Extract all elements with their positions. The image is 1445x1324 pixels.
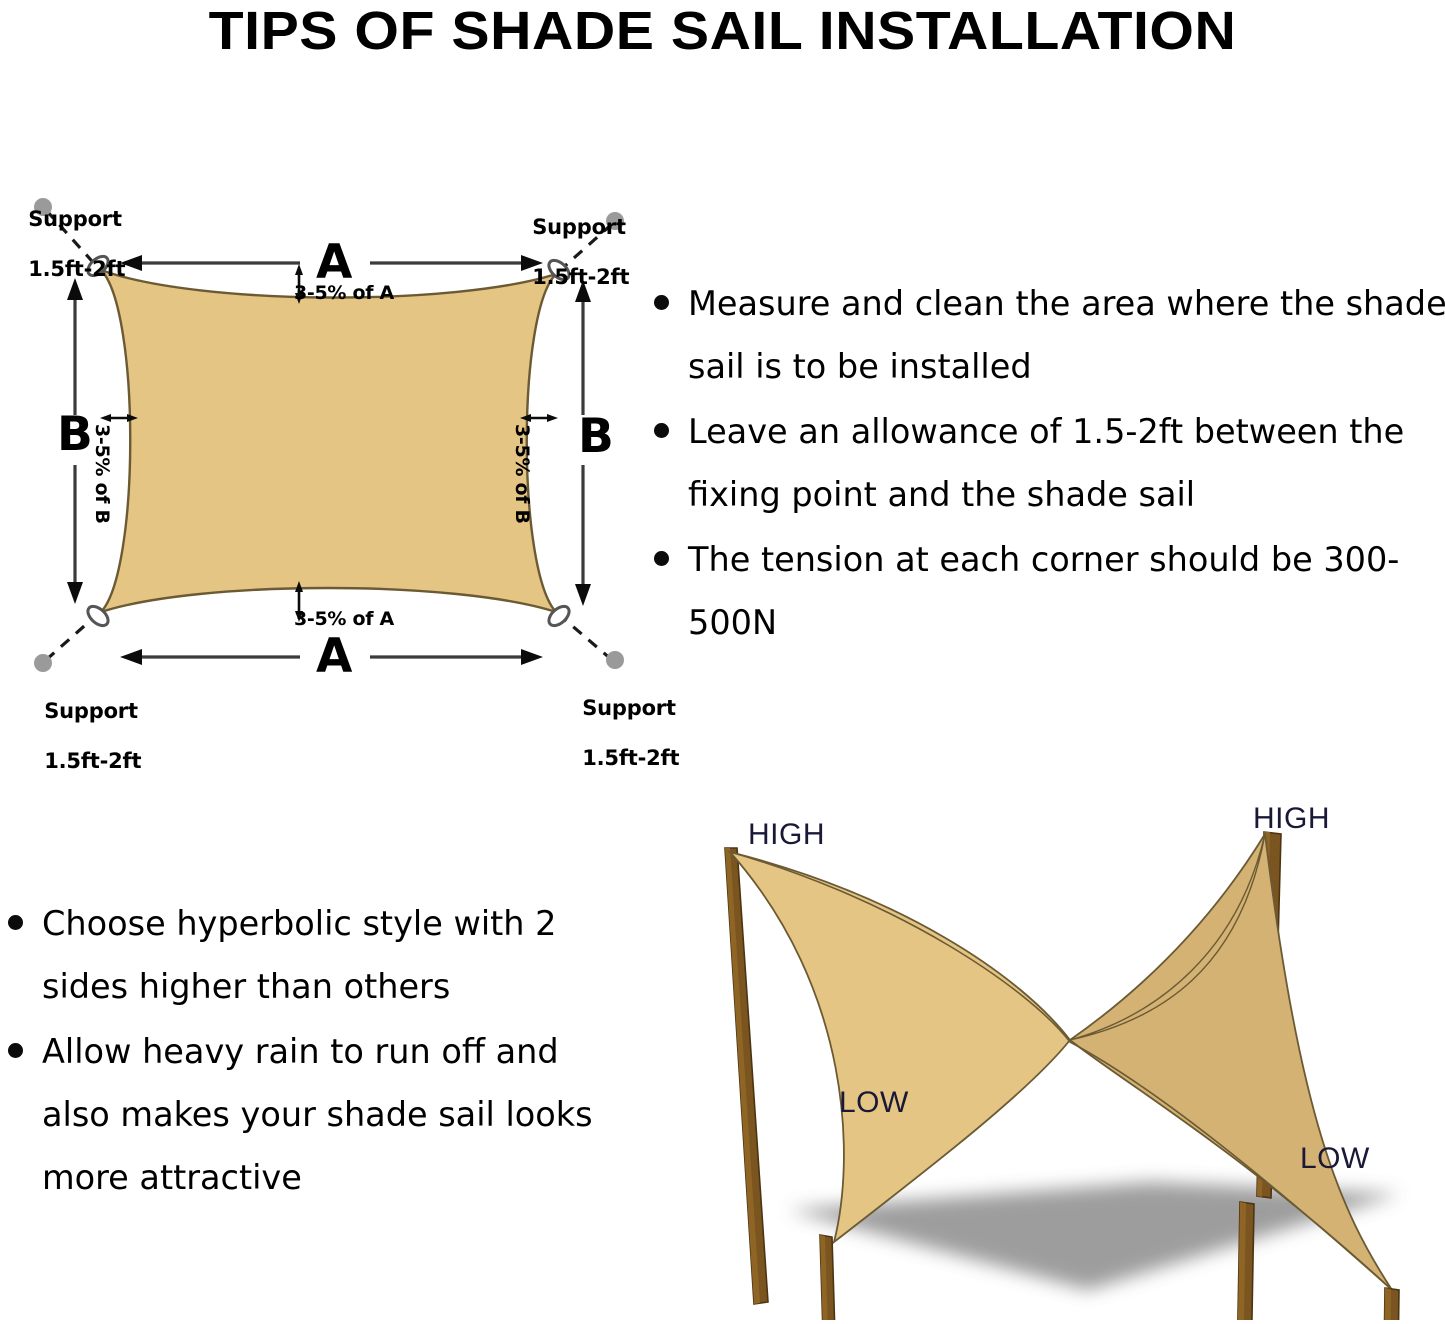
sail-surface-back-sweep (1070, 834, 1265, 1040)
bullet-dot-icon (654, 295, 669, 310)
post-low-right (1381, 1288, 1399, 1320)
page-title: TIPS OF SHADE SAIL INSTALLATION (0, 0, 1445, 62)
post-low-left (820, 1235, 838, 1320)
sag-label-right: 3-5% of B (511, 424, 533, 524)
support-label-line1: Support (44, 699, 138, 723)
post-high-right (1257, 832, 1281, 1198)
post-label-high-right: HIGH (1253, 802, 1330, 836)
ground-shadow (788, 1182, 1400, 1290)
sail-surface-front (730, 852, 1070, 1242)
list-item: Leave an allowance of 1.5-2ft between th… (648, 400, 1445, 526)
sail-surface-back (1070, 834, 1392, 1290)
support-label-line1: Support (532, 215, 626, 239)
sag-label-top: 3-5% of A (294, 282, 394, 304)
list-item-label: Measure and clean the area where the sha… (688, 272, 1445, 398)
sag-tick-left (100, 414, 138, 422)
sail-ridge-line (730, 852, 1392, 1290)
list-item-label: The tension at each corner should be 300… (688, 528, 1445, 654)
sag-label-left: 3-5% of B (91, 424, 113, 524)
support-label-line1: Support (582, 696, 676, 720)
list-item: Measure and clean the area where the sha… (648, 272, 1445, 398)
list-item-label: Leave an allowance of 1.5-2ft between th… (688, 400, 1445, 526)
support-label-line2: 1.5ft-2ft (28, 257, 125, 281)
list-item: Choose hyperbolic style with 2 sides hig… (2, 892, 622, 1018)
support-label-bottom-right: Support 1.5ft-2ft (568, 671, 679, 771)
support-label-top-right: Support 1.5ft-2ft (518, 190, 629, 290)
installation-tips-list: Measure and clean the area where the sha… (648, 272, 1445, 656)
sag-tick-right (520, 414, 558, 422)
bullet-dot-icon (8, 1043, 23, 1058)
corner-d-rings (84, 253, 572, 629)
support-label-line2: 1.5ft-2ft (532, 265, 629, 289)
hyperbolic-sail-diagram (640, 790, 1445, 1320)
support-label-line2: 1.5ft-2ft (44, 749, 141, 773)
post-label-low-right: LOW (1300, 1142, 1370, 1176)
post-label-high-left: HIGH (748, 818, 825, 852)
list-item-label: Choose hyperbolic style with 2 sides hig… (42, 892, 622, 1018)
bullet-dot-icon (654, 551, 669, 566)
list-item-label: Allow heavy rain to run off and also mak… (42, 1020, 622, 1209)
hyperbolic-style-tips-list: Choose hyperbolic style with 2 sides hig… (2, 892, 622, 1211)
post-mid-right (1236, 1202, 1254, 1320)
bullet-dot-icon (8, 915, 23, 930)
dimension-label-b-left: B (57, 411, 93, 458)
support-label-bottom-left: Support 1.5ft-2ft (30, 674, 141, 774)
post-label-low-left: LOW (839, 1086, 909, 1120)
list-item: The tension at each corner should be 300… (648, 528, 1445, 654)
bullet-dot-icon (654, 423, 669, 438)
shade-sail-fabric (101, 270, 556, 612)
dimension-label-a-bottom: A (316, 633, 352, 680)
post-high-left (725, 848, 768, 1304)
support-label-line1: Support (28, 207, 122, 231)
support-label-top-left: Support 1.5ft-2ft (14, 182, 125, 282)
dimension-label-b-right: B (578, 413, 614, 460)
support-label-line2: 1.5ft-2ft (582, 746, 679, 770)
dimension-label-a-top: A (316, 239, 352, 286)
list-item: Allow heavy rain to run off and also mak… (2, 1020, 622, 1209)
sag-label-bottom: 3-5% of A (294, 608, 394, 630)
